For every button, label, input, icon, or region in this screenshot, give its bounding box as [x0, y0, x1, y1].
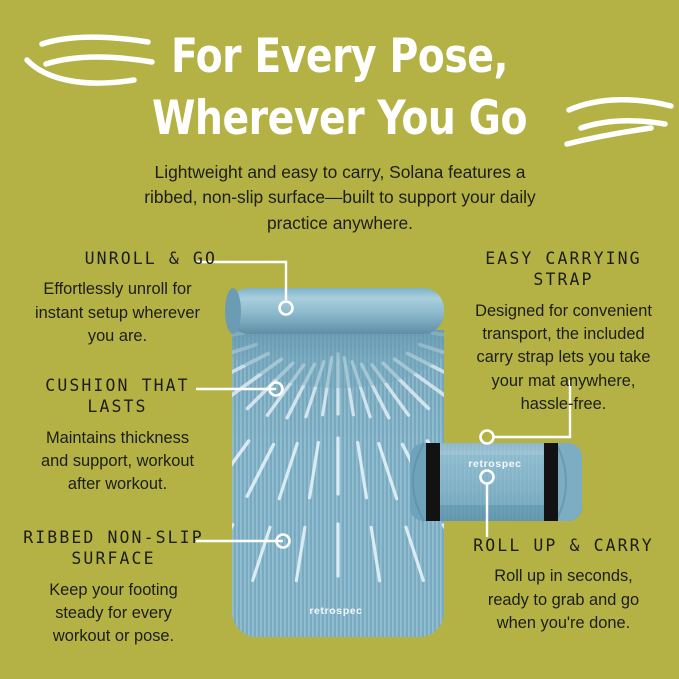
callout-roll-up-and-carry: ROLL UP & CARRY Roll up in seconds, read… — [456, 535, 671, 635]
callout-heading: RIBBED NON-SLIP SURFACE — [6, 527, 221, 570]
callout-body: Roll up in seconds, ready to grab and go… — [456, 565, 671, 635]
callout-body: Effortlessly unroll for instant setup wh… — [14, 278, 221, 348]
mat-roll-top — [228, 288, 444, 334]
callout-easy-carrying-strap: EASY CARRYING STRAP Designed for conveni… — [456, 248, 671, 416]
callout-ribbed-non-slip-surface: RIBBED NON-SLIP SURFACE Keep your footin… — [6, 527, 221, 649]
brand-logo-flat-mat: retrospec — [276, 605, 396, 617]
callout-cushion-that-lasts: CUSHION THAT LASTS Maintains thickness a… — [14, 375, 221, 497]
callout-body: Keep your footing steady for every worko… — [6, 579, 221, 649]
marker-strap — [481, 431, 494, 444]
mat-strap-right — [544, 443, 558, 521]
callout-heading: EASY CARRYING STRAP — [456, 248, 671, 291]
callout-heading: UNROLL & GO — [14, 248, 221, 269]
callout-body: Designed for convenient transport, the i… — [456, 300, 671, 416]
infographic-canvas: For Every Pose, Wherever You Go Lightwei… — [0, 0, 679, 679]
mat-strap-left — [426, 443, 440, 521]
callout-unroll-and-go: UNROLL & GO Effortlessly unroll for inst… — [14, 248, 221, 348]
callout-body: Maintains thickness and support, workout… — [14, 427, 221, 497]
brand-logo-rolled-mat: retrospec — [440, 458, 550, 470]
callout-heading: ROLL UP & CARRY — [456, 535, 671, 556]
callout-heading: CUSHION THAT LASTS — [14, 375, 221, 418]
